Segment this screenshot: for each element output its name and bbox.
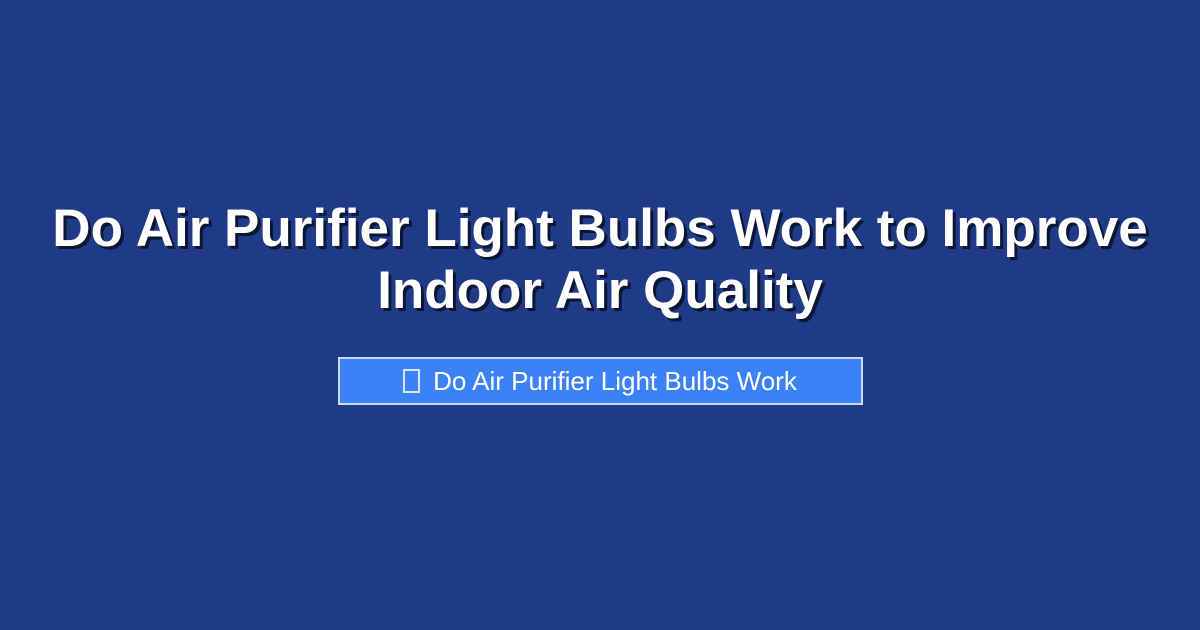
cta-button-label: Do Air Purifier Light Bulbs Work bbox=[433, 368, 797, 394]
page-title: Do Air Purifier Light Bulbs Work to Impr… bbox=[0, 198, 1200, 322]
og-preview-card: Do Air Purifier Light Bulbs Work to Impr… bbox=[0, 0, 1200, 630]
cta-container: Do Air Purifier Light Bulbs Work bbox=[0, 357, 1200, 405]
missing-glyph-box-icon bbox=[403, 369, 420, 393]
do-air-purifier-light-bulbs-work-button[interactable]: Do Air Purifier Light Bulbs Work bbox=[338, 357, 863, 405]
